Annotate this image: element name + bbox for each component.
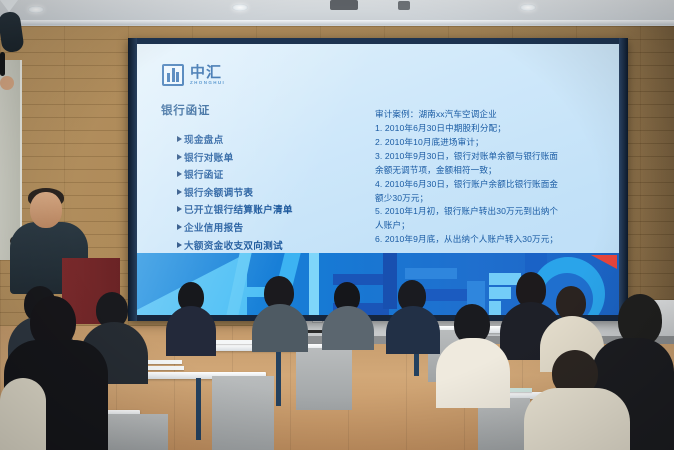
desk-modesty-panel [296,348,352,410]
logo-chinese-name: 中汇 [190,65,225,80]
ceiling-light-3 [520,4,536,11]
list-item: 银行对账单 [177,150,293,164]
presenter-hand [0,76,14,90]
audience-torso [436,338,510,408]
bullet-label: 银行函证 [184,167,224,181]
handheld-microphone [0,52,5,76]
case-item: 4. 2010年6月30日，银行账户余额比银行账面金 [375,178,607,192]
list-item: 银行函证 [177,167,293,181]
presenter-collar [0,0,18,12]
band-rect-7 [383,253,397,309]
case-heading: 审计案例：湖南xx汽车空调企业 [375,108,607,122]
band-rect-4 [309,253,319,315]
list-item: 大额资金收支双向测试 [177,238,293,252]
logo-pinyin-name: ZHONGHUI [190,81,225,86]
bullet-label: 企业信用报告 [184,220,243,234]
desk-leg [196,378,201,440]
zhonghui-logo: 中汇 ZHONGHUI [162,64,225,86]
audience-torso [166,306,216,356]
audience-head [556,286,586,320]
list-item: 已开立银行结算账户清单 [177,202,293,216]
list-item: 现金盘点 [177,132,293,146]
audience-torso [386,306,440,354]
band-step-2 [489,287,511,299]
desk-modesty-panel [108,414,168,450]
triangle-bullet-icon [177,154,182,160]
triangle-bullet-icon [177,136,182,142]
band-rect-9 [405,268,457,279]
ceiling-speaker [398,1,410,10]
slide-title: 银行函证 [161,102,210,118]
screen-bezel-right [619,38,628,321]
presentation-photo-scene: 中汇 ZHONGHUI 银行函证 现金盘点 银行对账单 银行函证 银行余额调节表 [0,0,674,450]
projection-screen[interactable]: 中汇 ZHONGHUI 银行函证 现金盘点 银行对账单 银行函证 银行余额调节表 [137,44,619,315]
ceiling-light-1 [28,6,44,13]
list-item: 银行余额调节表 [177,185,293,199]
case-item: 2. 2010年10月底进场审计； [375,136,607,150]
screen-bezel-left [128,38,137,321]
presenter-arm [0,11,25,54]
bullet-label: 银行对账单 [184,150,233,164]
audience-torso [524,388,630,450]
bullet-label: 大额资金收支双向测试 [184,238,283,252]
triangle-bullet-icon [177,242,182,248]
band-step-1 [489,301,501,315]
presenter [0,0,22,90]
case-item: 人账户； [375,219,607,233]
ceiling-projector [330,0,358,10]
case-item: 6. 2010年9月底，从出纳个人账户转入30万元； [375,233,607,247]
bullet-label: 现金盘点 [184,132,224,146]
audit-case-block: 审计案例：湖南xx汽车空调企业 1. 2010年6月30日中期股利分配； 2. … [375,108,607,247]
desk-leg [276,350,281,406]
list-item: 企业信用报告 [177,220,293,234]
bullet-label: 银行余额调节表 [184,185,253,199]
case-item: 5. 2010年1月初，银行账户转出30万元到出纳个 [375,205,607,219]
audience-torso [322,306,374,350]
triangle-bullet-icon [177,206,182,212]
slide-bullet-list: 现金盘点 银行对账单 银行函证 银行余额调节表 已开立银行结算账户清单 企业信用… [177,132,293,273]
case-item: 3. 2010年9月30日，银行对账单余额与银行账面 [375,150,607,164]
bullet-label: 已开立银行结算账户清单 [184,202,293,216]
triangle-bullet-icon [177,189,182,195]
triangle-bullet-icon [177,224,182,230]
desk-modesty-panel [212,376,274,450]
audience-torso [252,304,308,352]
triangle-bullet-icon [177,171,182,177]
case-item: 余额无调节项，金额相符一致； [375,164,607,178]
presenter-head [30,192,62,228]
case-item: 额少30万元； [375,192,607,206]
bar-chart-square-icon [162,64,184,86]
band-red-accent [591,255,617,269]
ceiling-light-2 [232,4,248,11]
audience-torso [0,378,46,450]
case-item: 1. 2010年6月30日中期股利分配； [375,122,607,136]
